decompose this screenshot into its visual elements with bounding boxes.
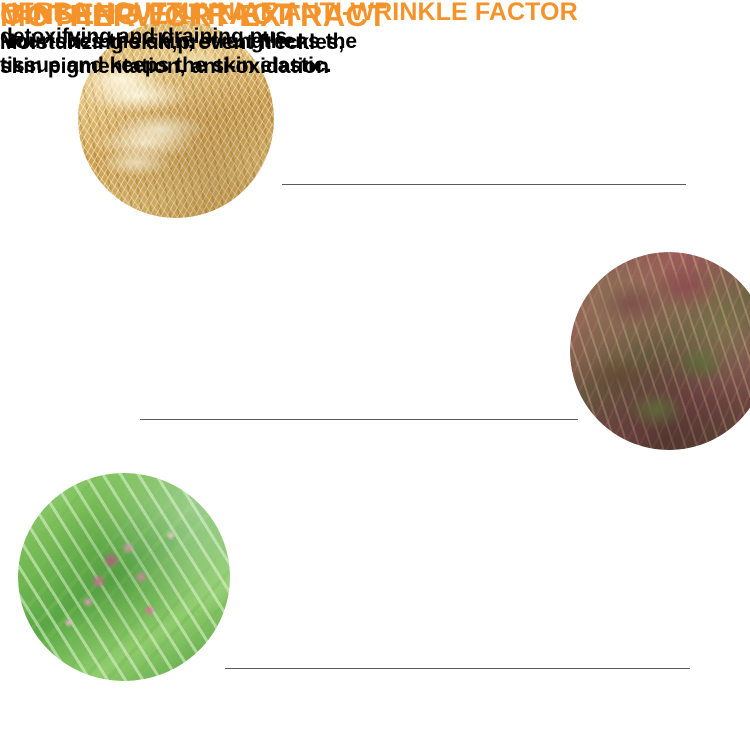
motherwort-flower-photo <box>18 473 230 681</box>
motherwort-text-block: MOTHERWORT EXTRACT Moisturizing skin,pre… <box>0 0 387 79</box>
motherwort-section-divider <box>225 668 690 669</box>
motherwort-description-line-2: skin pigmentation, anti-oxidation <box>0 55 387 79</box>
ginseng-section-divider <box>282 184 686 185</box>
houttuynia-leaves-photo-image <box>570 252 750 450</box>
motherwort-heading: MOTHERWORT EXTRACT <box>0 0 387 31</box>
ingredient-benefits-panel: GINSENG EXTRACT Nourishes the skin, stre… <box>0 0 750 741</box>
houttuyniae-section-divider <box>140 419 578 420</box>
houttuynia-leaves-photo <box>570 252 750 450</box>
motherwort-flower-photo-image <box>18 473 230 681</box>
motherwort-description-line-1: Moisturizing skin,prevent freckles, <box>0 31 387 55</box>
